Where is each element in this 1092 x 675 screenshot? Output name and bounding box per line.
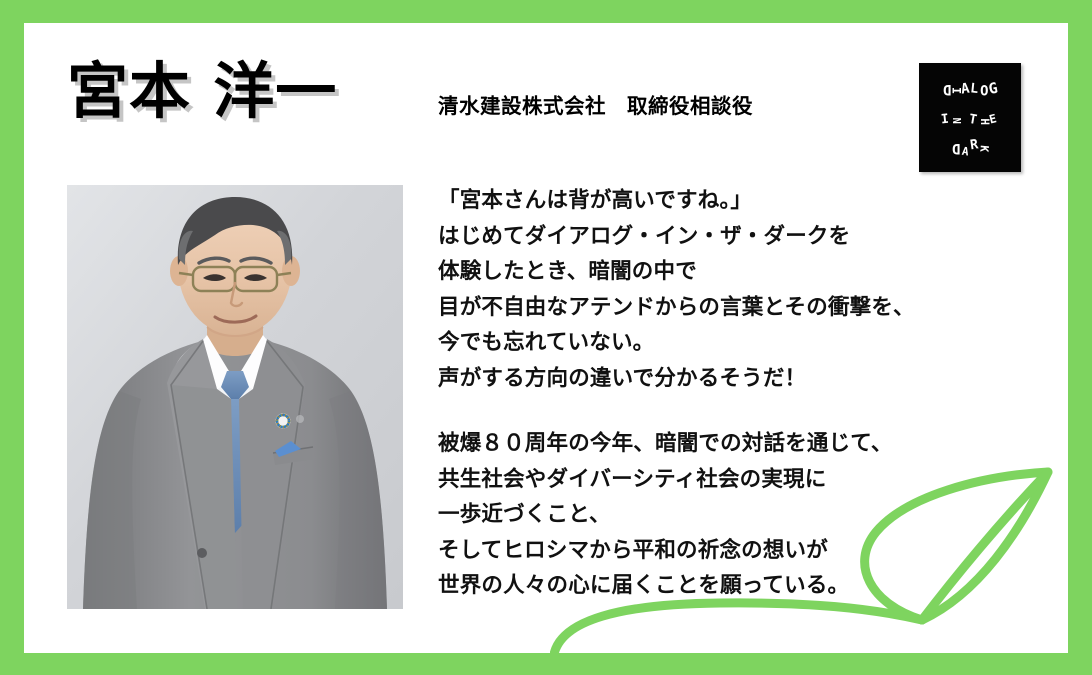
quote-line: 体験したとき、暗闇の中で [438, 254, 998, 290]
quote-line: 被爆８０周年の今年、暗闇での対話を通じて、 [438, 426, 998, 462]
paragraph-spacer [438, 396, 998, 426]
quote-line: 「宮本さんは背が高いですね。」 [438, 183, 998, 219]
quote-line: 声がする方向の違いで分かるそうだ！ [438, 361, 998, 397]
logo-line-in-the: INTHE [919, 112, 1021, 127]
quote-line: はじめてダイアログ・イン・ザ・ダークを [438, 219, 998, 255]
poster-root: 宮本 洋一 清水建設株式会社 取締役相談役 DIALOG INTHE DARK [0, 0, 1092, 675]
page-title: 宮本 洋一 [67, 61, 337, 122]
quote-line: そしてヒロシマから平和の祈念の想いが [438, 533, 998, 569]
logo-line-dialog: DIALOG [919, 81, 1021, 97]
quote-line: 今でも忘れていない。 [438, 325, 998, 361]
portrait-illustration [67, 185, 403, 609]
body-copy: 「宮本さんは背が高いですね。」 はじめてダイアログ・イン・ザ・ダークを 体験した… [438, 183, 998, 604]
affiliation-text: 清水建設株式会社 取締役相談役 [438, 89, 753, 119]
poster-canvas: 宮本 洋一 清水建設株式会社 取締役相談役 DIALOG INTHE DARK [24, 23, 1068, 653]
quote-line: 目が不自由なアテンドからの言葉とその衝撃を、 [438, 290, 998, 326]
logo-line-dark: DARK [919, 140, 1021, 156]
quote-line: 一歩近づくこと、 [438, 497, 998, 533]
quote-line: 世界の人々の心に届くことを願っている。 [438, 568, 998, 604]
dialog-in-the-dark-logo: DIALOG INTHE DARK [919, 63, 1021, 172]
portrait-photo [67, 185, 403, 609]
quote-line: 共生社会やダイバーシティ社会の実現に [438, 462, 998, 498]
